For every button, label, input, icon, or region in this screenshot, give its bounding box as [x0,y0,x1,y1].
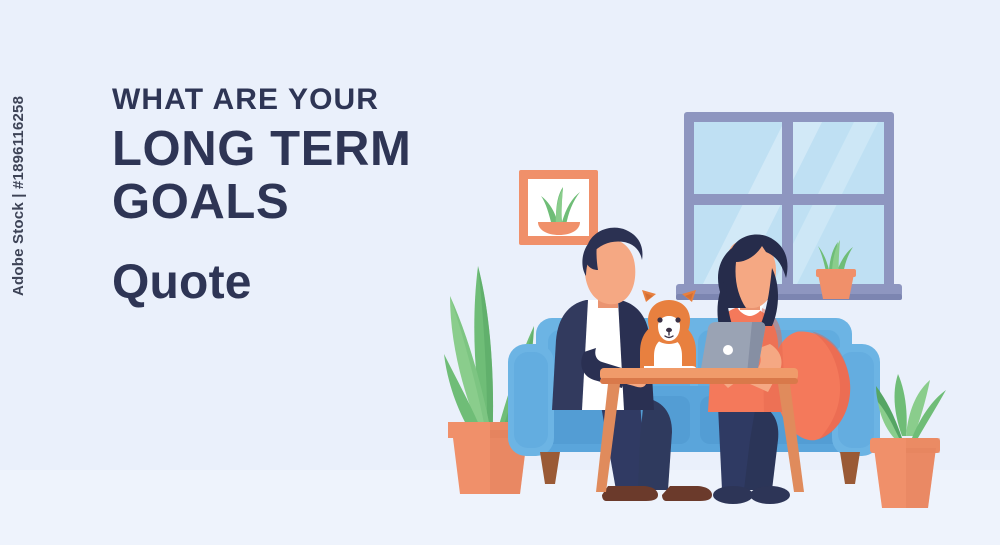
wall-picture-frame [519,170,598,245]
headline-line-2: LONG TERM [112,123,411,176]
headline-block: WHAT ARE YOUR LONG TERM GOALS Quote [112,84,411,309]
window [676,110,902,300]
headline-line-4: Quote [112,257,411,309]
headline-line-3: GOALS [112,176,411,229]
adobe-stock-id-watermark: Adobe Stock | #1896116258 [10,96,27,296]
headline-line-1: WHAT ARE YOUR [112,84,411,116]
illustration-canvas: Adobe StockAdobe StockAdobe StockAdobe S… [0,0,1000,545]
